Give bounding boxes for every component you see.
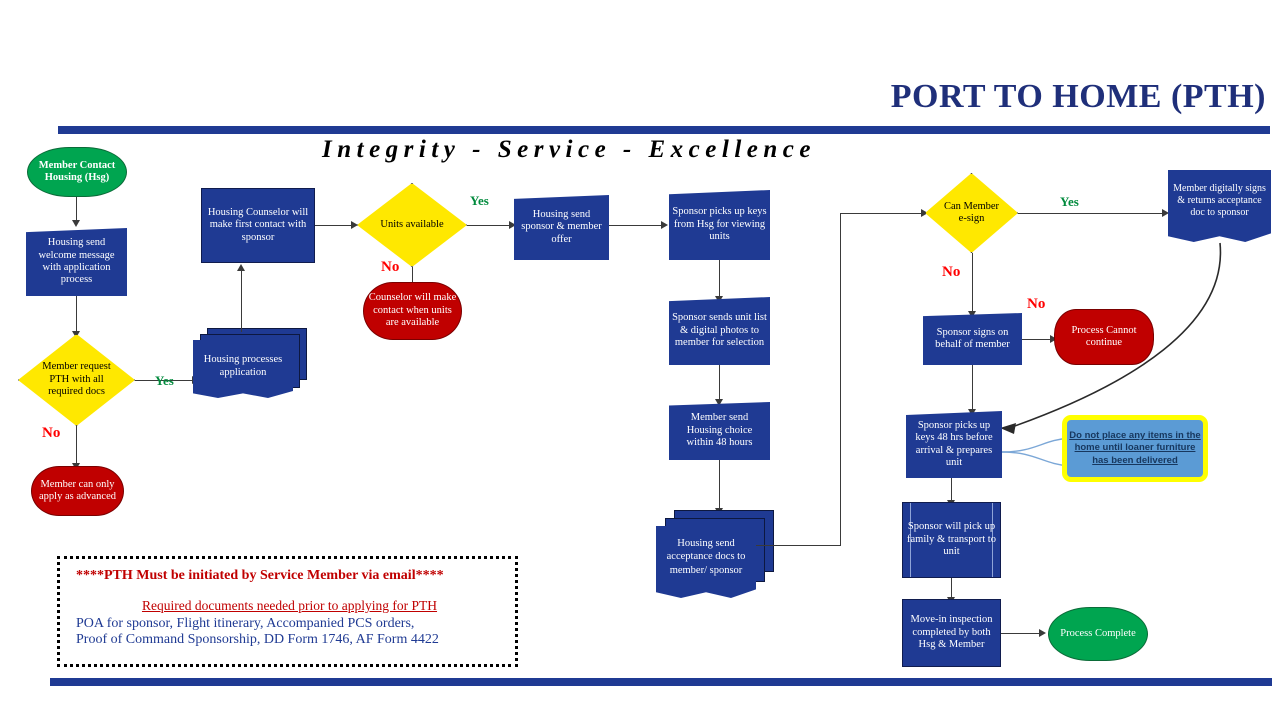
node-label: Move-in inspection completed by both Hsg… — [903, 614, 1000, 651]
node-label: Units available — [377, 219, 446, 231]
node-label: Member digitally signs & returns accepta… — [1171, 183, 1268, 220]
connector-keys48-to-family — [951, 478, 952, 502]
connector-offer-to-sponsor-keys — [609, 225, 665, 226]
edge-label-yes-esign: Yes — [1060, 194, 1079, 210]
node-sponsor-signs-on-behalf[interactable]: Sponsor signs on behalf of member — [923, 313, 1022, 365]
connector-esign-no — [972, 253, 973, 313]
node-sponsor-sends-unit-list[interactable]: Sponsor sends unit list & digital photos… — [669, 297, 770, 365]
node-label: Housing send sponsor & member offer — [514, 209, 609, 246]
node-member-can-only-apply-advanced[interactable]: Member can only apply as advanced — [31, 466, 124, 516]
node-housing-counselor-first-contact[interactable]: Housing Counselor will make first contac… — [201, 188, 315, 263]
edge-label-no-units: No — [381, 259, 399, 276]
node-member-digitally-signs[interactable]: Member digitally signs & returns accepta… — [1168, 170, 1271, 242]
node-member-request-decision[interactable]: Member request PTH with all required doc… — [18, 334, 135, 426]
node-member-contact-housing[interactable]: Member Contact Housing (Hsg) — [27, 147, 127, 197]
node-housing-send-acceptance-docs[interactable]: Housing send acceptance docs to member/ … — [656, 510, 776, 598]
arrowhead — [237, 264, 245, 271]
arrowhead — [72, 220, 80, 227]
edge-label-yes-units: Yes — [470, 193, 489, 209]
node-member-send-housing-choice[interactable]: Member send Housing choice within 48 hou… — [669, 402, 770, 460]
connector-sponsorsigns-to-keys48 — [972, 365, 973, 411]
header-divider-top — [58, 126, 1270, 134]
connector-start-to-welcome — [76, 197, 77, 221]
node-label: Can Member e-sign — [941, 201, 1003, 226]
node-label: Sponsor picks up keys 48 hrs before arri… — [906, 420, 1002, 470]
node-label: Member can only apply as advanced — [32, 479, 123, 504]
arrowhead — [1039, 629, 1046, 637]
node-housing-send-offer[interactable]: Housing send sponsor & member offer — [514, 195, 609, 260]
node-movein-inspection[interactable]: Move-in inspection completed by both Hsg… — [902, 599, 1001, 667]
connector-welcome-to-request-decision — [76, 296, 77, 332]
node-label: Counselor will make contact when units a… — [364, 292, 461, 329]
flowchart-canvas: PORT TO HOME (PTH) Integrity - Service -… — [0, 0, 1280, 720]
node-label: Housing Counselor will make first contac… — [202, 207, 314, 244]
connector-acceptance-up — [840, 213, 841, 546]
tagline: Integrity - Service - Excellence — [322, 136, 816, 164]
connector-counselor-to-units — [315, 225, 355, 226]
notes-line-2: Proof of Command Sponsorship, DD Form 17… — [76, 632, 503, 648]
node-label: Process Cannot continue — [1055, 325, 1153, 350]
connector-units-yes — [467, 225, 513, 226]
edge-label-no-process-cannot: No — [1027, 296, 1045, 313]
connector-acceptance-to-esign — [840, 213, 925, 214]
node-process-complete[interactable]: Process Complete — [1048, 607, 1148, 661]
node-label: Member request PTH with all required doc… — [38, 361, 116, 398]
connector-request-no — [76, 426, 77, 464]
callout-loaner-furniture-warning: Do not place any items in the home until… — [1062, 415, 1208, 482]
node-label: Member Contact Housing (Hsg) — [28, 160, 126, 185]
connector-application-to-counselor — [241, 270, 242, 332]
connector-esign-yes — [1018, 213, 1166, 214]
arrowhead — [661, 221, 668, 229]
node-label: Member send Housing choice within 48 hou… — [669, 412, 770, 449]
notes-line-1: POA for sponsor, Flight itinerary, Accom… — [76, 616, 503, 632]
node-label: Housing processes application — [193, 353, 293, 379]
node-process-cannot-continue[interactable]: Process Cannot continue — [1054, 309, 1154, 365]
connector-choice-to-acceptance — [719, 460, 720, 510]
connector-movein-to-complete — [1001, 633, 1043, 634]
footer-divider-bottom — [50, 678, 1272, 686]
node-label: Sponsor signs on behalf of member — [923, 327, 1022, 352]
node-sponsor-pickup-family[interactable]: Sponsor will pick up family & transport … — [902, 502, 1001, 578]
node-housing-processes-application[interactable]: Housing processes application — [193, 328, 308, 398]
node-label: Process Complete — [1057, 628, 1139, 640]
callout-text: Do not place any items in the home until… — [1067, 430, 1203, 467]
node-label: Housing send welcome message with applic… — [26, 237, 127, 287]
page-title: PORT TO HOME (PTH) — [891, 78, 1266, 116]
connector-unitlist-to-choice — [719, 365, 720, 401]
notes-box: ****PTH Must be initiated by Service Mem… — [57, 556, 518, 667]
node-counselor-contact-when-units[interactable]: Counselor will make contact when units a… — [363, 282, 462, 340]
connector-acceptance-right — [756, 545, 841, 546]
connector-keys-to-unitlist — [719, 260, 720, 298]
notes-headline: ****PTH Must be initiated by Service Mem… — [76, 568, 503, 584]
edge-label-no-esign: No — [942, 264, 960, 281]
node-label: Sponsor picks up keys from Hsg for viewi… — [669, 206, 770, 243]
notes-subtitle: Required documents needed prior to apply… — [76, 598, 503, 614]
node-label: Sponsor sends unit list & digital photos… — [669, 312, 770, 349]
node-units-available-decision[interactable]: Units available — [357, 183, 467, 267]
node-label: Housing send acceptance docs to member/ … — [656, 537, 756, 576]
edge-label-yes-request: Yes — [155, 373, 174, 389]
node-sponsor-picks-up-keys-viewing[interactable]: Sponsor picks up keys from Hsg for viewi… — [669, 190, 770, 260]
node-housing-send-welcome[interactable]: Housing send welcome message with applic… — [26, 228, 127, 296]
edge-label-no-request: No — [42, 425, 60, 442]
node-sponsor-picks-up-keys-48hrs[interactable]: Sponsor picks up keys 48 hrs before arri… — [906, 411, 1002, 478]
node-label: Sponsor will pick up family & transport … — [903, 521, 1000, 558]
